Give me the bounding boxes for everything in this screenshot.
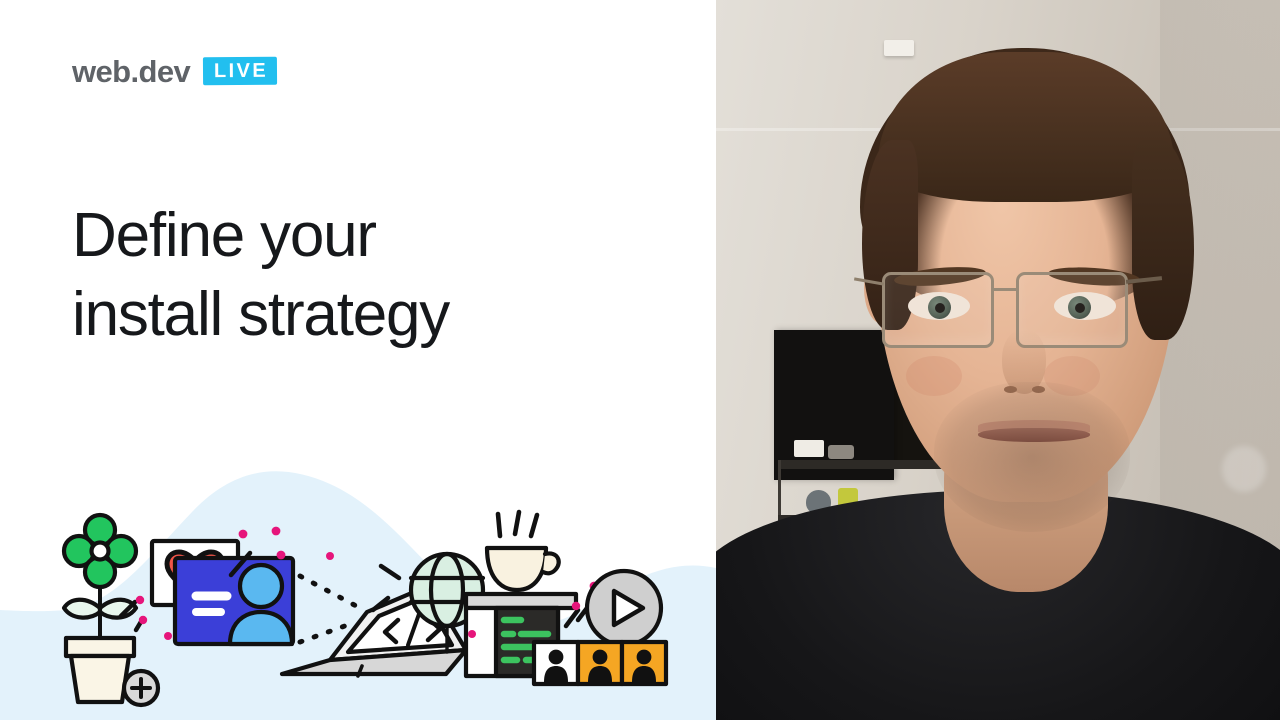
slide-title: Define your install strategy: [72, 196, 632, 355]
user-tiles-icon: [534, 642, 666, 684]
webcam-video-panel[interactable]: [716, 0, 1280, 720]
wall-light-reflection: [1222, 446, 1266, 492]
slide-panel: web.dev LIVE Define your install strateg…: [0, 0, 716, 720]
speaker-cheek-left: [906, 356, 962, 396]
play-button-icon: [587, 571, 661, 645]
speaker-stubble: [934, 382, 1130, 532]
logo-wordmark: web.dev: [72, 56, 190, 87]
slide-title-line-1: Define your: [72, 196, 632, 275]
glasses-lens-left: [882, 272, 994, 348]
slide-title-line-2: install strategy: [72, 275, 632, 354]
live-badge: LIVE: [203, 57, 277, 86]
brand-logo: web.dev LIVE: [72, 52, 277, 90]
presentation-screenshot: web.dev LIVE Define your install strateg…: [0, 0, 1280, 720]
potted-flower-icon: [64, 515, 158, 705]
glasses-bridge: [994, 288, 1018, 291]
ceiling-fixture: [884, 40, 914, 56]
shelf-object-gray: [828, 445, 854, 459]
illustration-group: [0, 490, 716, 720]
shelf-object-white: [794, 440, 824, 457]
coffee-cup-icon: [487, 512, 559, 590]
